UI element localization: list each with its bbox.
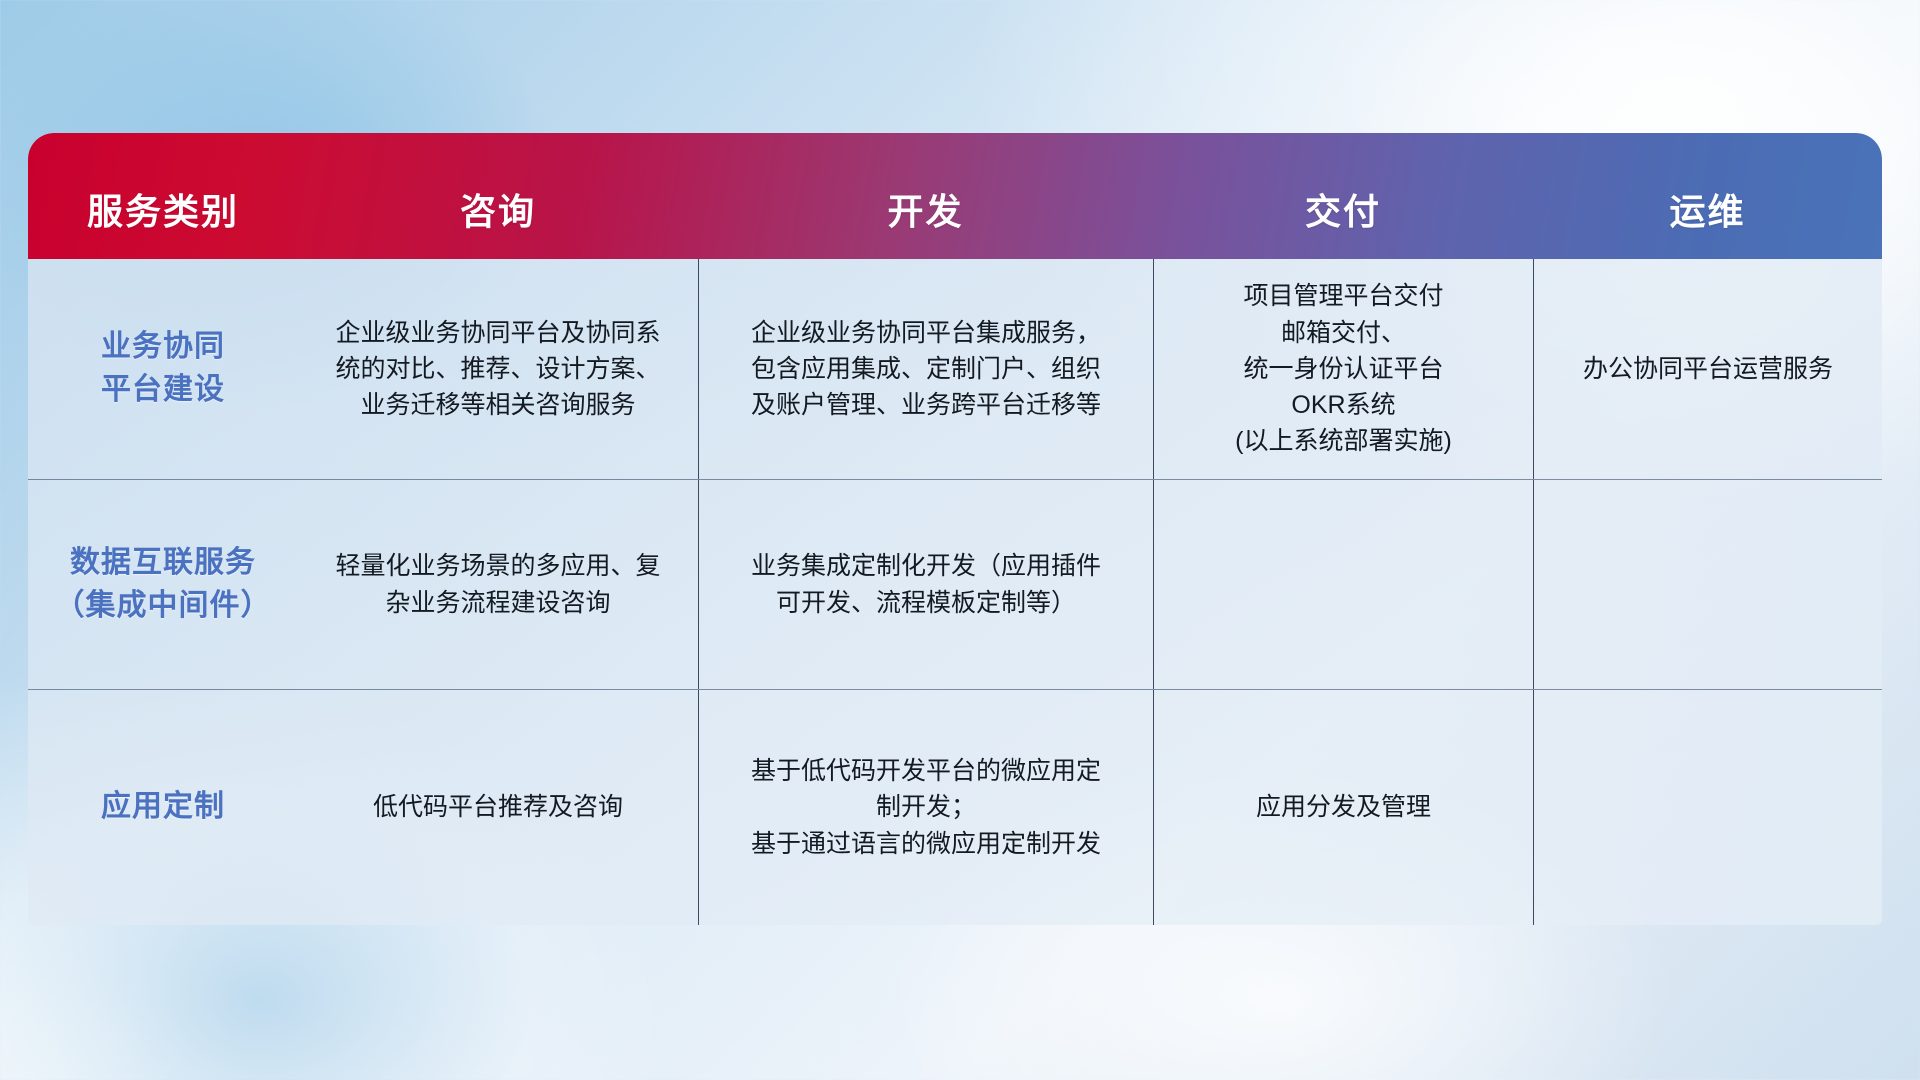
column-header-delivery: 交付	[1153, 169, 1533, 259]
row-label-text: 应用定制	[101, 786, 225, 829]
column-header-category: 服务类别	[28, 169, 298, 259]
column-header-operations-label: 运维	[1669, 183, 1745, 235]
column-header-operations: 运维	[1533, 169, 1882, 259]
cell-development-text: 企业级业务协同平台集成服务， 包含应用集成、定制门户、组织 及账户管理、业务跨平…	[751, 315, 1101, 424]
cell-consulting: 轻量化业务场景的多应用、复 杂业务流程建设咨询	[298, 480, 698, 689]
table-row: 数据互联服务 （集成中间件） 轻量化业务场景的多应用、复 杂业务流程建设咨询 业…	[28, 480, 1882, 690]
cell-delivery: 项目管理平台交付 邮箱交付、 统一身份认证平台 OKR系统 (以上系统部署实施)	[1153, 259, 1533, 479]
column-header-consulting-label: 咨询	[460, 183, 536, 235]
cell-operations	[1533, 480, 1882, 689]
cell-delivery-text: 应用分发及管理	[1256, 789, 1431, 825]
cell-consulting: 低代码平台推荐及咨询	[298, 690, 698, 925]
cell-development-text: 基于低代码开发平台的微应用定 制开发； 基于通过语言的微应用定制开发	[751, 753, 1101, 862]
cell-delivery	[1153, 480, 1533, 689]
cell-development: 企业级业务协同平台集成服务， 包含应用集成、定制门户、组织 及账户管理、业务跨平…	[698, 259, 1153, 479]
table-row: 业务协同 平台建设 企业级业务协同平台及协同系 统的对比、推荐、设计方案、 业务…	[28, 259, 1882, 480]
row-label-cell: 应用定制	[28, 690, 298, 925]
cell-consulting: 企业级业务协同平台及协同系 统的对比、推荐、设计方案、 业务迁移等相关咨询服务	[298, 259, 698, 479]
cell-operations	[1533, 690, 1882, 925]
column-header-development-label: 开发	[887, 183, 963, 235]
cell-consulting-text: 轻量化业务场景的多应用、复 杂业务流程建设咨询	[335, 548, 660, 621]
cell-delivery: 应用分发及管理	[1153, 690, 1533, 925]
cell-consulting-text: 企业级业务协同平台及协同系 统的对比、推荐、设计方案、 业务迁移等相关咨询服务	[335, 315, 660, 424]
cell-consulting-text: 低代码平台推荐及咨询	[373, 789, 623, 825]
cell-operations-text: 办公协同平台运营服务	[1583, 351, 1833, 387]
row-label-cell: 数据互联服务 （集成中间件）	[28, 480, 298, 689]
column-header-consulting: 咨询	[298, 169, 698, 259]
cell-development: 基于低代码开发平台的微应用定 制开发； 基于通过语言的微应用定制开发	[698, 690, 1153, 925]
row-label-text: 业务协同 平台建设	[101, 326, 225, 411]
row-label-cell: 业务协同 平台建设	[28, 259, 298, 479]
cell-development: 业务集成定制化开发（应用插件 可开发、流程模板定制等）	[698, 480, 1153, 689]
row-label-text: 数据互联服务 （集成中间件）	[55, 542, 272, 627]
column-header-category-label: 服务类别	[87, 183, 239, 235]
table-row: 应用定制 低代码平台推荐及咨询 基于低代码开发平台的微应用定 制开发； 基于通过…	[28, 690, 1882, 925]
cell-development-text: 业务集成定制化开发（应用插件 可开发、流程模板定制等）	[751, 548, 1101, 621]
column-header-delivery-label: 交付	[1305, 183, 1381, 235]
table-body: 业务协同 平台建设 企业级业务协同平台及协同系 统的对比、推荐、设计方案、 业务…	[28, 259, 1882, 925]
cell-delivery-text: 项目管理平台交付 邮箱交付、 统一身份认证平台 OKR系统 (以上系统部署实施)	[1235, 278, 1452, 459]
table-header-row: 服务类别 咨询 开发 交付 运维	[28, 133, 1882, 259]
service-matrix-table: 服务类别 咨询 开发 交付 运维 业务协同 平台建设 企业级业务协同平台及协同系…	[28, 133, 1882, 925]
cell-operations: 办公协同平台运营服务	[1533, 259, 1882, 479]
column-header-development: 开发	[698, 169, 1153, 259]
